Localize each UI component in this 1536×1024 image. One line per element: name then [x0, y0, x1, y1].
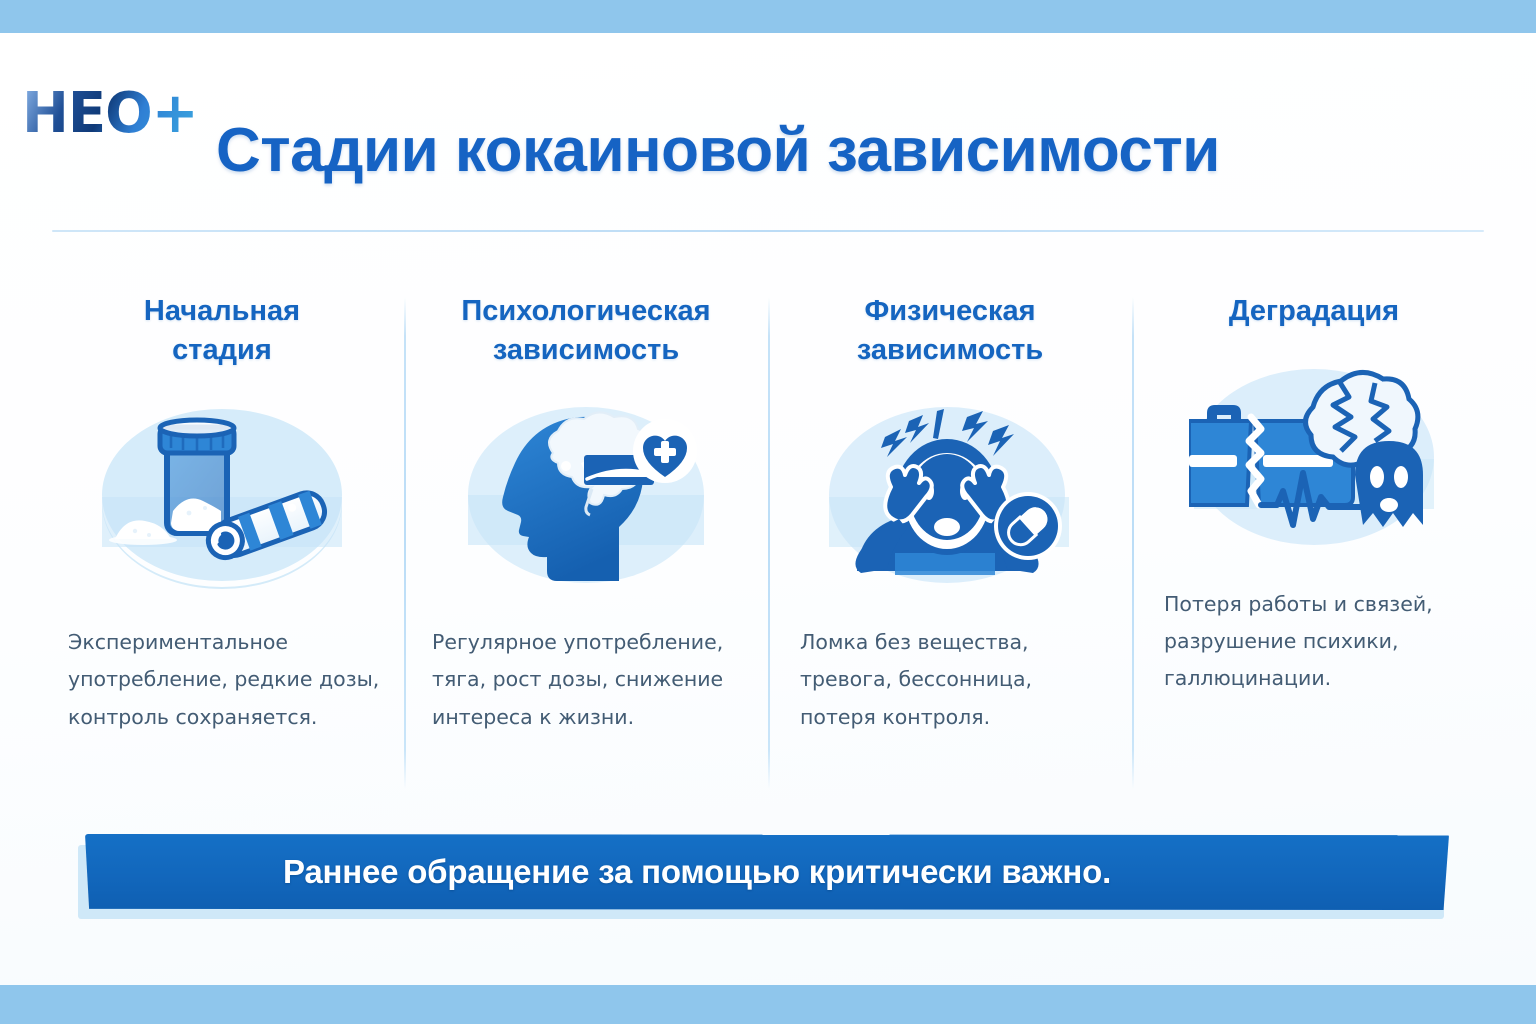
- stage-title-initial: Начальная стадия: [144, 292, 300, 369]
- stage-column-initial: Начальная стадия: [40, 258, 404, 798]
- stage-title-line-2: зависимость: [461, 331, 710, 370]
- stage-description-physical: Ломка без вещества, тревога, бессонница,…: [790, 624, 1110, 736]
- head-brain-with-heart-plus-icon: [461, 393, 711, 598]
- page-title: Стадии кокаиновой зависимости: [216, 115, 1316, 186]
- stage-column-physical: Физическая зависимость: [768, 258, 1132, 798]
- banner-text: Раннее обращение за помощью критически в…: [85, 853, 1449, 891]
- broken-briefcase-brain-ghost-icon: [1189, 355, 1439, 560]
- person-headache-with-pill-icon: [825, 393, 1075, 598]
- stages-row: Начальная стадия: [40, 258, 1496, 798]
- stage-title-line-1: Деградация: [1229, 292, 1399, 331]
- brand-logo-text: HEO: [22, 81, 152, 146]
- top-decor-band: [0, 0, 1536, 33]
- call-to-action-banner: Раннее обращение за помощью критически в…: [85, 834, 1449, 910]
- infographic-canvas: HEO+ Стадии кокаиновой зависимости Начал…: [0, 33, 1536, 985]
- stage-column-psychological: Психологическая зависимость: [404, 258, 768, 798]
- stage-description-initial: Экспериментальное употребление, редкие д…: [62, 624, 382, 736]
- stage-title-line-1: Физическая: [857, 292, 1043, 331]
- brand-logo-plus: +: [152, 81, 198, 146]
- title-divider: [52, 230, 1484, 232]
- powder-jar-and-rolled-note-icon: [97, 393, 347, 598]
- stage-column-degradation: Деградация: [1132, 258, 1496, 798]
- stage-description-degradation: Потеря работы и связей, разрушение психи…: [1154, 586, 1474, 698]
- stage-title-line-1: Начальная: [144, 292, 300, 331]
- stage-title-line-2: стадия: [144, 331, 300, 370]
- stage-description-psychological: Регулярное употребление, тяга, рост дозы…: [426, 624, 746, 736]
- stage-title-physical: Физическая зависимость: [857, 292, 1043, 369]
- bottom-decor-band: [0, 985, 1536, 1024]
- stage-title-psychological: Психологическая зависимость: [461, 292, 710, 369]
- stage-title-degradation: Деградация: [1229, 292, 1399, 331]
- brand-logo: HEO+: [22, 86, 198, 142]
- stage-title-line-2: зависимость: [857, 331, 1043, 370]
- stage-title-line-1: Психологическая: [461, 292, 710, 331]
